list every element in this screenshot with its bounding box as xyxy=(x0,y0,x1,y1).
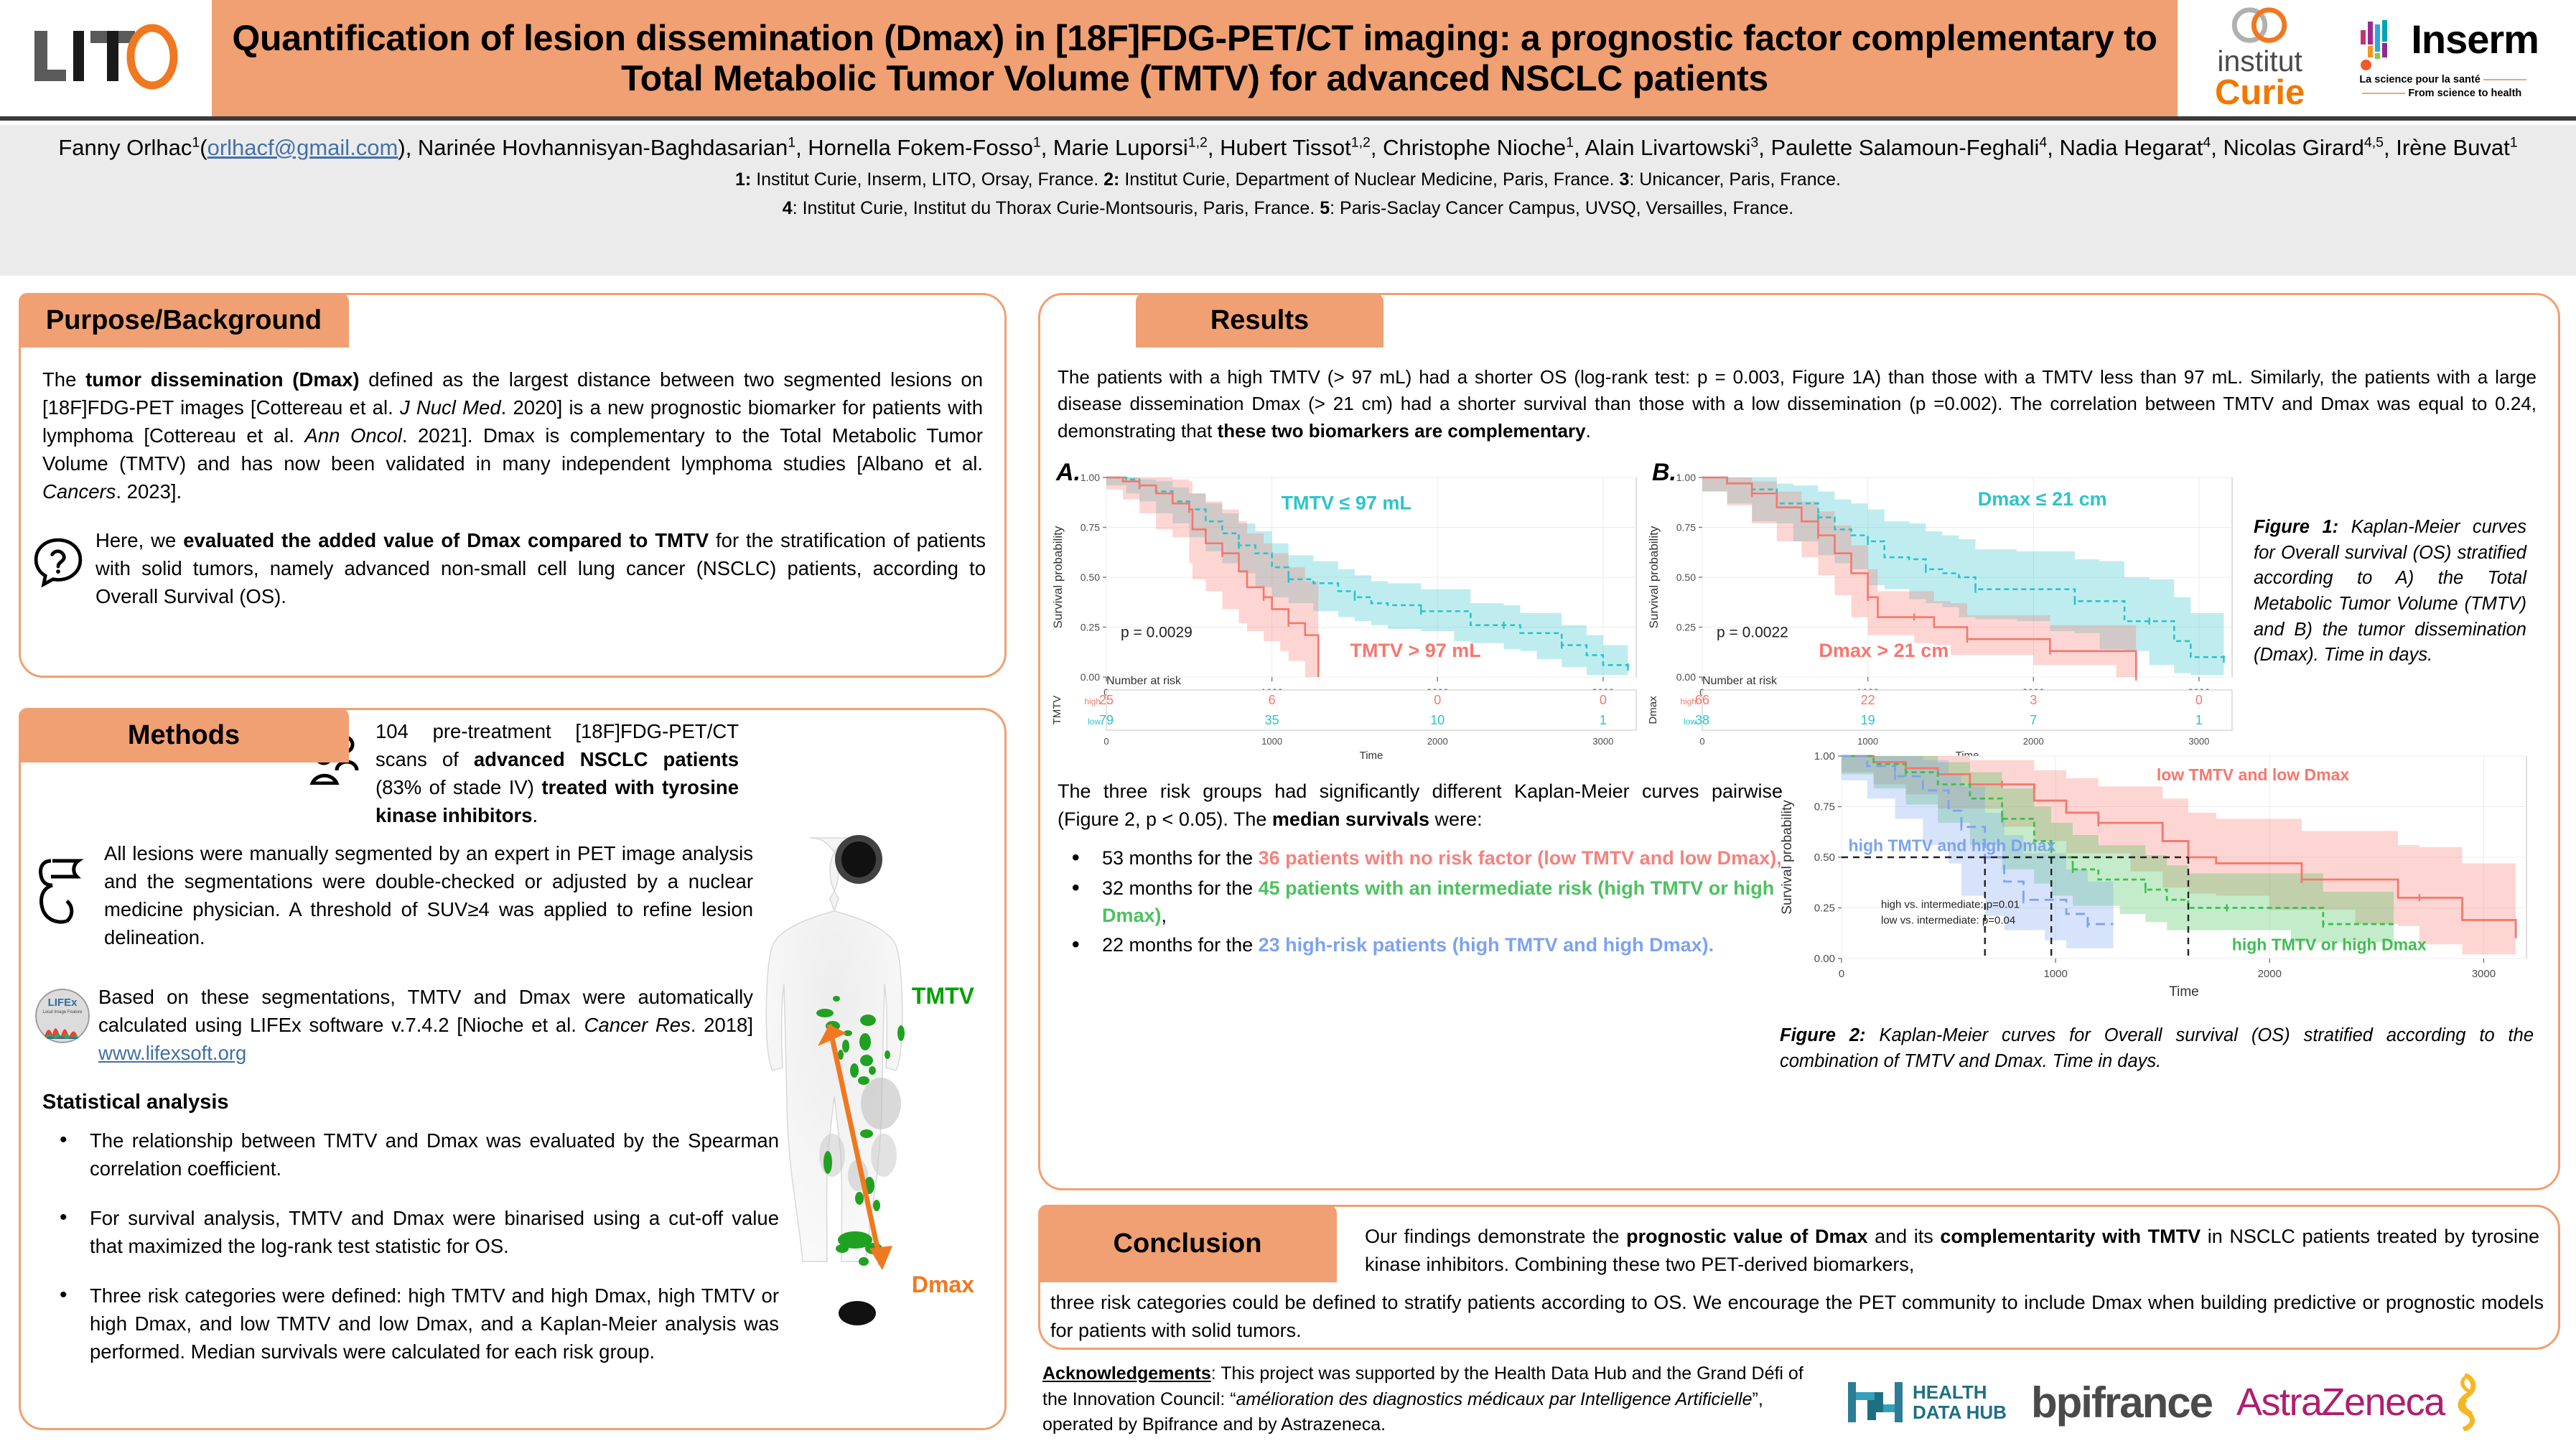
methods-cohort-row: 104 pre-treatment [18F]FDG-PET/CT scans … xyxy=(308,717,739,829)
svg-text:0.75: 0.75 xyxy=(1081,522,1100,533)
svg-text:3000: 3000 xyxy=(2472,968,2496,980)
svg-text:0: 0 xyxy=(1600,693,1607,707)
risk-lead-1: 32 months for the xyxy=(1102,877,1259,899)
svg-text:1: 1 xyxy=(2195,713,2203,727)
svg-text:low vs. intermediate: p=0.04: low vs. intermediate: p=0.04 xyxy=(1881,915,2015,927)
results-paragraph-2: The three risk groups had significantly … xyxy=(1058,778,1783,834)
purpose-paragraph: The tumor dissemination (Dmax) defined a… xyxy=(42,365,983,505)
curie-institut-label: institut xyxy=(2217,47,2302,75)
svg-text:2000: 2000 xyxy=(2258,968,2282,980)
svg-text:1.00: 1.00 xyxy=(1676,472,1696,483)
svg-text:0: 0 xyxy=(1839,968,1844,980)
conclusion-text-part1: Our findings demonstrate the prognostic … xyxy=(1365,1223,2539,1279)
svg-text:6: 6 xyxy=(1269,693,1276,707)
figure-1a-letter: A. xyxy=(1056,459,1081,487)
acknowledgements-text: Acknowledgements: This project was suppo… xyxy=(1042,1361,1832,1438)
curie-name-label: Curie xyxy=(2215,75,2305,111)
methods-segmentation-row: All lesions were manually segmented by a… xyxy=(35,839,753,951)
conclusion-section-header: Conclusion xyxy=(1038,1205,1337,1282)
svg-text:0.00: 0.00 xyxy=(1676,671,1696,683)
svg-text:0.50: 0.50 xyxy=(1081,572,1100,583)
hdh-line1: HEALTH xyxy=(1913,1382,2007,1402)
svg-text:1.00: 1.00 xyxy=(1081,472,1100,483)
header-logos: institut Curie Inserm La science pour la… xyxy=(2178,0,2576,116)
svg-text:35: 35 xyxy=(1265,713,1279,727)
svg-text:0.75: 0.75 xyxy=(1814,801,1835,813)
figure-1a: A. 0.000.250.500.751.000100020003000Time… xyxy=(1050,462,1646,763)
inserm-tagline-en: From science to health xyxy=(2408,88,2521,99)
svg-text:Survival probability: Survival probability xyxy=(1051,526,1065,628)
svg-text:3000: 3000 xyxy=(1592,736,1613,747)
svg-text:0.25: 0.25 xyxy=(1676,622,1696,633)
figure-1b-svg: 0.000.250.500.751.000100020003000TimeSur… xyxy=(1646,462,2242,763)
risk-highlight-0: 36 patients with no risk factor (low TMT… xyxy=(1259,847,1782,869)
svg-text:high: high xyxy=(1680,696,1697,706)
results-panel: The patients with a high TMTV (> 97 mL) … xyxy=(1038,293,2560,1190)
list-item: 53 months for the 36 patients with no ri… xyxy=(1062,845,1787,872)
pet-body-illustration xyxy=(740,818,977,1407)
risk-lead-0: 53 months for the xyxy=(1102,847,1259,869)
list-item: 32 months for the 45 patients with an in… xyxy=(1062,875,1787,930)
scroll-pen-icon xyxy=(35,855,97,930)
svg-text:Dmax ≤ 21 cm: Dmax ≤ 21 cm xyxy=(1978,488,2107,510)
inserm-dot-icon xyxy=(2361,60,2371,70)
statistical-analysis-title: Statistical analysis xyxy=(42,1091,229,1114)
poster-header: Quantification of lesion dissemination (… xyxy=(0,0,2576,121)
risk-highlight-2: 23 high-risk patients (high TMTV and hig… xyxy=(1259,934,1714,956)
svg-text:LIFEx: LIFEx xyxy=(48,997,78,1009)
methods-lifex-text: Based on these segmentations, TMTV and D… xyxy=(98,983,753,1067)
hdh-line2: DATA HUB xyxy=(1913,1402,2007,1422)
svg-text:1.00: 1.00 xyxy=(1814,750,1835,762)
purpose-section-header: Purpose/Background xyxy=(19,293,349,347)
affiliation-line-1: 1: Institut Curie, Inserm, LITO, Orsay, … xyxy=(0,167,2576,192)
pet-label-dmax: Dmax xyxy=(912,1272,974,1298)
methods-lifex-row: LIFEx Local Image Feature Based on these… xyxy=(35,983,753,1067)
figure-2: 0.000.250.500.751.000100020003000TimeSur… xyxy=(1780,742,2541,1014)
results-section-header: Results xyxy=(1136,293,1383,347)
list-item: The relationship between TMTV and Dmax w… xyxy=(54,1127,779,1183)
methods-cohort-text: 104 pre-treatment [18F]FDG-PET/CT scans … xyxy=(375,717,739,829)
svg-text:TMTV ≤ 97 mL: TMTV ≤ 97 mL xyxy=(1282,492,1411,513)
methods-section-header: Methods xyxy=(19,708,349,762)
results-heading-label: Results xyxy=(1210,305,1309,336)
svg-text:1000: 1000 xyxy=(1261,736,1282,747)
risk-trail-1: , xyxy=(1162,905,1167,926)
health-data-hub-logo: HEALTH DATA HUB xyxy=(1845,1376,2007,1428)
purpose-heading-label: Purpose/Background xyxy=(46,305,322,336)
inserm-bars-icon xyxy=(2359,20,2404,59)
list-item: Three risk categories were defined: high… xyxy=(54,1282,779,1366)
question-bubble-icon xyxy=(31,535,85,589)
purpose-question-text: Here, we evaluated the added value of Dm… xyxy=(95,526,986,610)
svg-text:0: 0 xyxy=(1434,693,1441,707)
svg-text:0.25: 0.25 xyxy=(1081,622,1100,633)
list-item: 22 months for the 23 high-risk patients … xyxy=(1062,932,1787,959)
svg-text:TMTV: TMTV xyxy=(1051,696,1063,725)
inserm-wordmark: Inserm xyxy=(2411,16,2539,62)
sponsor-logos: HEALTH DATA HUB bpifrance AstraZeneca xyxy=(1845,1363,2563,1442)
svg-text:3: 3 xyxy=(2030,693,2037,707)
svg-text:high TMTV and high Dmax: high TMTV and high Dmax xyxy=(1849,836,2056,855)
figure-2-svg: 0.000.250.500.751.000100020003000TimeSur… xyxy=(1780,742,2541,1014)
svg-text:1: 1 xyxy=(1600,713,1607,727)
svg-text:low TMTV and low Dmax: low TMTV and low Dmax xyxy=(2157,765,2350,784)
purpose-panel: The tumor dissemination (Dmax) defined a… xyxy=(19,293,1007,678)
svg-text:0: 0 xyxy=(1103,736,1109,747)
svg-text:TMTV > 97 mL: TMTV > 97 mL xyxy=(1350,640,1480,661)
svg-text:Time: Time xyxy=(2169,984,2199,999)
page-title: Quantification of lesion dissemination (… xyxy=(225,18,2165,98)
figure-1b-letter: B. xyxy=(1652,459,1676,487)
institut-curie-logo: institut Curie xyxy=(2215,6,2305,111)
svg-text:Survival probability: Survival probability xyxy=(1647,526,1661,628)
svg-text:79: 79 xyxy=(1099,713,1114,727)
svg-text:Time: Time xyxy=(1360,750,1383,762)
svg-text:0.00: 0.00 xyxy=(1814,953,1835,965)
svg-text:19: 19 xyxy=(1861,713,1875,727)
methods-heading-label: Methods xyxy=(128,720,240,751)
statistical-analysis-list: The relationship between TMTV and Dmax w… xyxy=(54,1127,779,1387)
inserm-tagline-fr: La science pour la santé xyxy=(2359,74,2480,85)
svg-text:0: 0 xyxy=(1699,736,1704,747)
affiliation-line-2: 4: Institut Curie, Institut du Thorax Cu… xyxy=(0,196,2576,221)
pet-mip-image: TMTV Dmax xyxy=(740,818,977,1407)
svg-text:1000: 1000 xyxy=(2043,968,2067,980)
purpose-highlight: Here, we evaluated the added value of Dm… xyxy=(31,526,986,610)
svg-text:p = 0.0029: p = 0.0029 xyxy=(1121,624,1193,640)
inserm-logo: Inserm La science pour la santé From sci… xyxy=(2359,16,2539,101)
svg-text:0.00: 0.00 xyxy=(1081,671,1100,683)
methods-segmentation-text: All lesions were manually segmented by a… xyxy=(104,839,753,951)
svg-text:0.75: 0.75 xyxy=(1676,522,1696,533)
results-paragraph: The patients with a high TMTV (> 97 mL) … xyxy=(1058,364,2537,444)
svg-text:Number at risk: Number at risk xyxy=(1702,675,1778,687)
risk-group-list: 53 months for the 36 patients with no ri… xyxy=(1062,845,1787,962)
astrazeneca-logo: AstraZeneca xyxy=(2236,1373,2479,1431)
risk-lead-2: 22 months for the xyxy=(1102,934,1259,956)
health-data-hub-icon xyxy=(1845,1376,1905,1428)
astrazeneca-helix-icon xyxy=(2443,1373,2479,1431)
svg-text:22: 22 xyxy=(1861,693,1875,707)
svg-text:2000: 2000 xyxy=(1427,736,1448,747)
svg-text:p = 0.0022: p = 0.0022 xyxy=(1717,624,1788,640)
svg-text:Dmax: Dmax xyxy=(1647,696,1659,724)
conclusion-heading-label: Conclusion xyxy=(1114,1228,1262,1259)
svg-text:7: 7 xyxy=(2030,713,2037,727)
svg-text:66: 66 xyxy=(1695,693,1709,707)
lifex-logo-icon: LIFEx Local Image Feature xyxy=(35,989,90,1043)
curie-rings-icon xyxy=(2225,6,2295,47)
list-item: For survival analysis, TMTV and Dmax wer… xyxy=(54,1204,779,1260)
svg-text:Number at risk: Number at risk xyxy=(1106,675,1182,687)
authors-block: Fanny Orlhac1(orlhacf@gmail.com), Nariné… xyxy=(0,125,2576,276)
svg-text:0.50: 0.50 xyxy=(1676,572,1696,583)
svg-text:Dmax > 21 cm: Dmax > 21 cm xyxy=(1819,640,1949,661)
poster-title-band: Quantification of lesion dissemination (… xyxy=(212,0,2178,116)
svg-text:high: high xyxy=(1084,696,1101,706)
svg-text:high TMTV or high Dmax: high TMTV or high Dmax xyxy=(2232,936,2427,954)
methods-panel: 104 pre-treatment [18F]FDG-PET/CT scans … xyxy=(19,708,1007,1430)
svg-text:Survival probability: Survival probability xyxy=(1780,800,1795,915)
astrazeneca-wordmark: AstraZeneca xyxy=(2236,1380,2445,1424)
svg-text:25: 25 xyxy=(1099,693,1114,707)
svg-text:10: 10 xyxy=(1430,713,1445,727)
svg-text:high vs. intermediate: p=0.01: high vs. intermediate: p=0.01 xyxy=(1881,899,2020,911)
figure-1b: B. 0.000.250.500.751.000100020003000Time… xyxy=(1646,462,2242,763)
author-list: Fanny Orlhac1(orlhacf@gmail.com), Nariné… xyxy=(0,134,2576,163)
svg-text:0: 0 xyxy=(2195,693,2203,707)
figure-1-caption: Figure 1: Kaplan-Meier curves for Overal… xyxy=(2254,515,2526,668)
pet-label-tmtv: TMTV xyxy=(912,983,974,1009)
lito-logo-icon xyxy=(29,22,183,94)
svg-text:0.50: 0.50 xyxy=(1814,852,1835,864)
svg-text:38: 38 xyxy=(1695,713,1709,727)
bpifrance-logo: bpifrance xyxy=(2031,1378,2212,1427)
figure-2-caption: Figure 2: Kaplan-Meier curves for Overal… xyxy=(1780,1023,2534,1074)
svg-text:0.25: 0.25 xyxy=(1814,902,1835,915)
figure-1a-svg: 0.000.250.500.751.000100020003000TimeSur… xyxy=(1050,462,1646,763)
lito-logo xyxy=(0,0,212,116)
svg-text:Local Image Feature: Local Image Feature xyxy=(42,1010,83,1014)
conclusion-text-part2: three risk categories could be defined t… xyxy=(1050,1289,2544,1345)
